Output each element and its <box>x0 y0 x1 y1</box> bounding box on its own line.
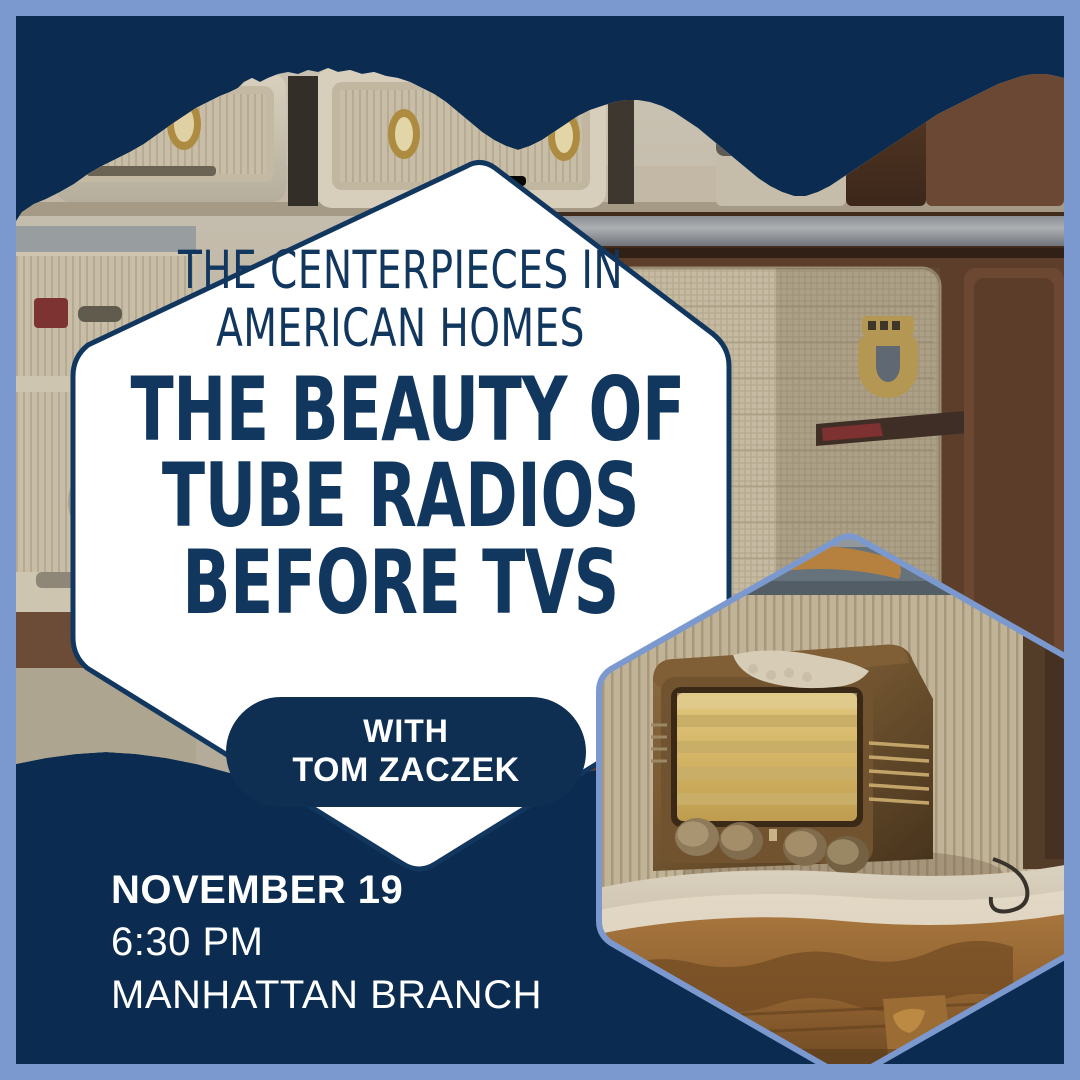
poster-inner-area: THE CENTERPIECES IN AMERICAN HOMES THE B… <box>16 16 1064 1064</box>
radio-photo-hexagon-badge <box>593 529 1064 1064</box>
event-location: MANHATTAN BRANCH <box>111 969 542 1022</box>
event-details: NOVEMBER 19 6:30 PM MANHATTAN BRANCH <box>111 864 542 1022</box>
speaker-pill: WITH TOM ZACZEK <box>226 697 586 807</box>
event-date: NOVEMBER 19 <box>111 864 542 917</box>
speaker-name: TOM ZACZEK <box>292 752 519 789</box>
event-time: 6:30 PM <box>111 916 542 969</box>
speaker-with-label: WITH <box>363 715 449 749</box>
event-poster: THE CENTERPIECES IN AMERICAN HOMES THE B… <box>0 0 1080 1080</box>
